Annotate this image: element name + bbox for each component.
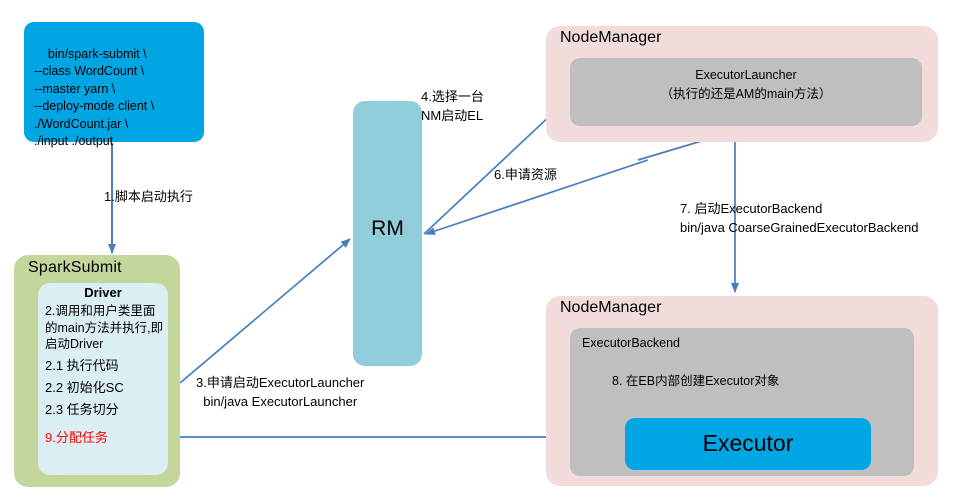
diagram-canvas: bin/spark-submit \ --class WordCount \ -… [0, 0, 958, 497]
arrow-step3 [180, 239, 350, 383]
resource-manager-label: RM [353, 217, 422, 241]
spark-submit-command-text: bin/spark-submit \ --class WordCount \ -… [34, 47, 154, 149]
executor-box: Executor [625, 418, 871, 470]
driver-box: Driver 2.调用和用户类里面的main方法并执行,即启动Driver 2.… [38, 283, 168, 475]
node-manager-bottom-title: NodeManager [560, 299, 661, 317]
executor-launcher-box: ExecutorLauncher （执行的还是AM的main方法） [570, 58, 922, 126]
spark-submit-container: SparkSubmit Driver 2.调用和用户类里面的main方法并执行,… [14, 255, 180, 487]
driver-steps: 2.1 执行代码 2.2 初始化SC 2.3 任务切分 [45, 355, 167, 421]
annotation-step3: 3.申请启动ExecutorLauncher bin/java Executor… [196, 374, 364, 411]
annotation-step7: 7. 启动ExecutorBackend bin/java CoarseGrai… [680, 200, 918, 237]
spark-submit-title: SparkSubmit [28, 259, 122, 277]
spark-submit-command-box: bin/spark-submit \ --class WordCount \ -… [24, 22, 204, 142]
annotation-step6: 6.申请资源 [494, 166, 557, 185]
executor-label: Executor [625, 430, 871, 457]
driver-description: 2.调用和用户类里面的main方法并执行,即启动Driver [45, 303, 167, 353]
node-manager-top: NodeManager ExecutorLauncher （执行的还是AM的ma… [546, 26, 938, 142]
node-manager-top-title: NodeManager [560, 29, 661, 47]
resource-manager-box: RM [353, 101, 422, 366]
executor-backend-note: 8. 在EB内部创建Executor对象 [612, 370, 779, 389]
annotation-step4: 4.选择一台 NM启动EL [421, 88, 484, 125]
driver-title: Driver [38, 285, 168, 300]
executor-launcher-note: （执行的还是AM的main方法） [570, 85, 922, 104]
executor-launcher-text: ExecutorLauncher （执行的还是AM的main方法） [570, 66, 922, 104]
driver-allocate-task: 9.分配任务 [45, 427, 108, 446]
executor-backend-title: ExecutorBackend [582, 336, 680, 350]
annotation-step1: 1.脚本启动执行 [104, 188, 193, 207]
executor-launcher-name: ExecutorLauncher [570, 66, 922, 85]
